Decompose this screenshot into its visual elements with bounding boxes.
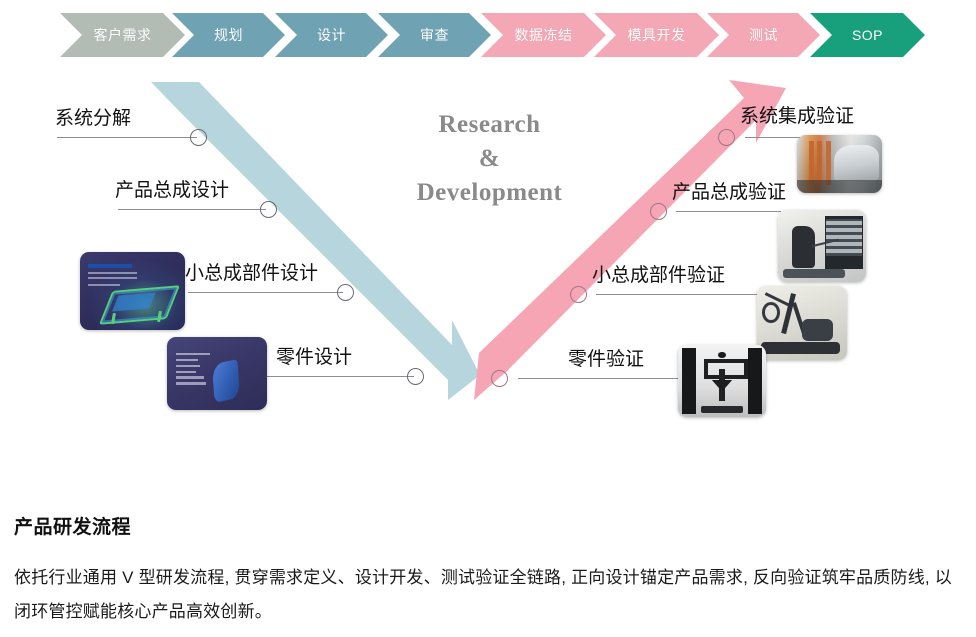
center-heading-line-1: Research bbox=[382, 108, 597, 142]
cae-mesh-thumbnail bbox=[80, 252, 185, 330]
center-heading-line-3: Development bbox=[382, 176, 597, 210]
verification-node-3[interactable] bbox=[570, 286, 587, 303]
design-leader-line-3 bbox=[188, 292, 343, 293]
verification-node-1[interactable] bbox=[718, 129, 735, 146]
design-stage-label-1: 系统分解 bbox=[55, 103, 131, 130]
verification-stage-label-2: 产品总成验证 bbox=[672, 177, 786, 204]
verification-leader-line-2 bbox=[676, 211, 781, 212]
caption-body: 依托行业通用 V 型研发流程, 贯穿需求定义、设计开发、测试验证全链路, 正向设… bbox=[14, 561, 962, 629]
vehicle-test-thumbnail bbox=[797, 135, 882, 193]
verification-stage-label-4: 零件验证 bbox=[568, 344, 644, 371]
design-leader-line-4 bbox=[262, 376, 414, 377]
design-stage-label-3: 小总成部件设计 bbox=[185, 258, 318, 285]
design-node-4[interactable] bbox=[407, 368, 424, 385]
caption-title: 产品研发流程 bbox=[14, 512, 962, 539]
verification-stage-label-3: 小总成部件验证 bbox=[592, 260, 725, 287]
center-heading-line-2: & bbox=[382, 142, 597, 176]
verification-leader-line-3 bbox=[596, 294, 761, 295]
caption-block: 产品研发流程 依托行业通用 V 型研发流程, 贯穿需求定义、设计开发、测试验证全… bbox=[14, 512, 962, 629]
mechanism-test-thumbnail bbox=[757, 286, 847, 360]
design-leader-line-1 bbox=[57, 137, 197, 138]
design-node-2[interactable] bbox=[260, 201, 277, 218]
slide-canvas: 客户需求规划设计审查数据冻结模具开发测试SOP Research & Devel… bbox=[0, 0, 976, 637]
design-stage-label-2: 产品总成设计 bbox=[115, 175, 229, 202]
seat-rig-thumbnail bbox=[778, 210, 866, 282]
design-node-3[interactable] bbox=[337, 284, 354, 301]
utm-test-thumbnail bbox=[678, 345, 766, 417]
verification-leader-line-4 bbox=[518, 378, 688, 379]
verification-node-2[interactable] bbox=[650, 203, 667, 220]
design-node-1[interactable] bbox=[190, 129, 207, 146]
cad-part-thumbnail bbox=[167, 337, 267, 410]
verification-stage-label-1: 系统集成验证 bbox=[740, 101, 854, 128]
verification-node-4[interactable] bbox=[491, 370, 508, 387]
center-heading: Research & Development bbox=[382, 108, 597, 210]
design-leader-line-2 bbox=[118, 209, 266, 210]
design-stage-label-4: 零件设计 bbox=[276, 342, 352, 369]
